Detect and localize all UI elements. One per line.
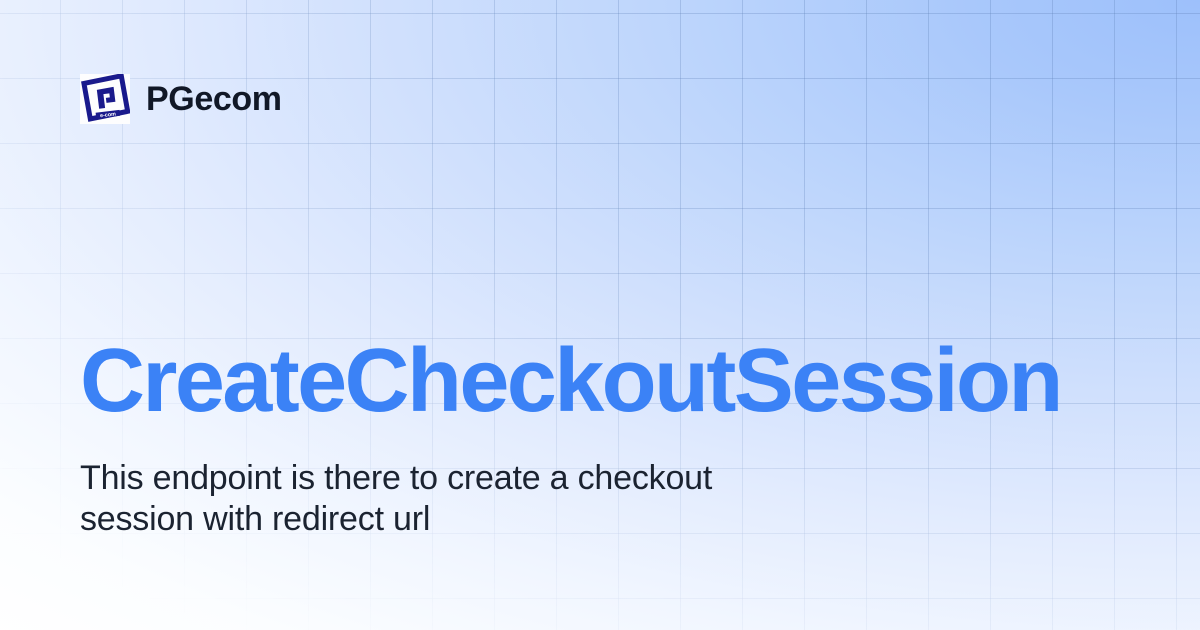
banner-content: e-com PGecom CreateCheckoutSession This … — [0, 0, 1200, 630]
hero-text-block: CreateCheckoutSession This endpoint is t… — [80, 336, 1130, 540]
pgecom-logo-icon: e-com — [80, 74, 130, 124]
brand-name: PGecom — [146, 82, 282, 116]
page-subtitle: This endpoint is there to create a check… — [80, 458, 780, 540]
og-banner: e-com PGecom CreateCheckoutSession This … — [0, 0, 1200, 630]
page-title: CreateCheckoutSession — [80, 336, 1130, 426]
brand-header: e-com PGecom — [80, 74, 282, 124]
